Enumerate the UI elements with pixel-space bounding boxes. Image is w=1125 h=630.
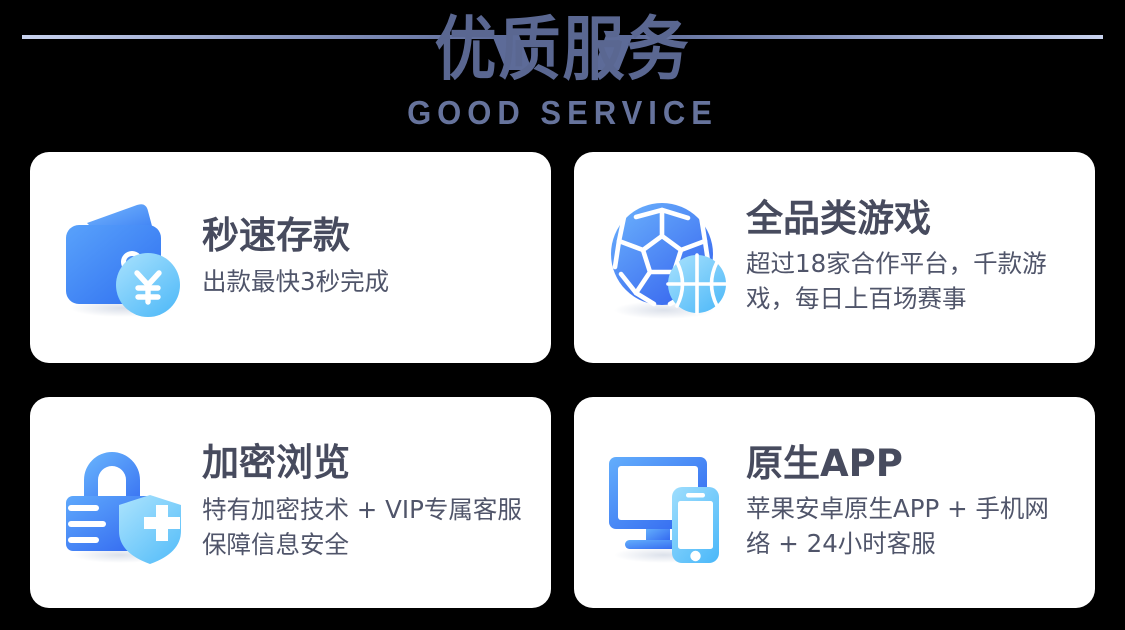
promo-page: 优质服务 GOOD SERVICE [0,0,1125,630]
card-title: 原生APP [746,443,1073,486]
card-text-block: 全品类游戏 超过18家合作平台，千款游戏，每日上百场赛事 [746,198,1073,316]
card-title: 秒速存款 [202,215,529,258]
card-text-block: 加密浏览 特有加密技术 + VIP专属客服保障信息安全 [202,442,529,562]
card-title: 全品类游戏 [746,198,1073,241]
page-header: 优质服务 GOOD SERVICE [0,0,1125,150]
feature-card-encryption[interactable]: 加密浏览 特有加密技术 + VIP专属客服保障信息安全 [30,397,551,608]
page-title: 优质服务 [0,8,1125,90]
feature-card-native-app[interactable]: 原生APP 苹果安卓原生APP + 手机网络 + 24小时客服 [574,397,1095,608]
page-subtitle: GOOD SERVICE [0,94,1125,133]
card-text-block: 原生APP 苹果安卓原生APP + 手机网络 + 24小时客服 [746,443,1073,561]
card-description: 苹果安卓原生APP + 手机网络 + 24小时客服 [746,492,1073,562]
soccer-basketball-icon [604,194,732,322]
feature-card-games[interactable]: 全品类游戏 超过18家合作平台，千款游戏，每日上百场赛事 [574,152,1095,363]
card-text-block: 秒速存款 出款最快3秒完成 [202,215,529,300]
feature-card-deposit[interactable]: 秒速存款 出款最快3秒完成 [30,152,551,363]
card-description: 特有加密技术 + VIP专属客服保障信息安全 [202,493,529,563]
card-description: 出款最快3秒完成 [202,265,529,300]
header-title-block: 优质服务 GOOD SERVICE [0,8,1125,131]
wallet-yen-coin-icon [60,194,188,322]
card-title: 加密浏览 [202,442,529,485]
monitor-phone-icon [604,439,732,567]
feature-card-grid: 秒速存款 出款最快3秒完成 [30,152,1095,608]
lock-shield-icon [60,439,188,567]
card-description: 超过18家合作平台，千款游戏，每日上百场赛事 [746,247,1073,317]
